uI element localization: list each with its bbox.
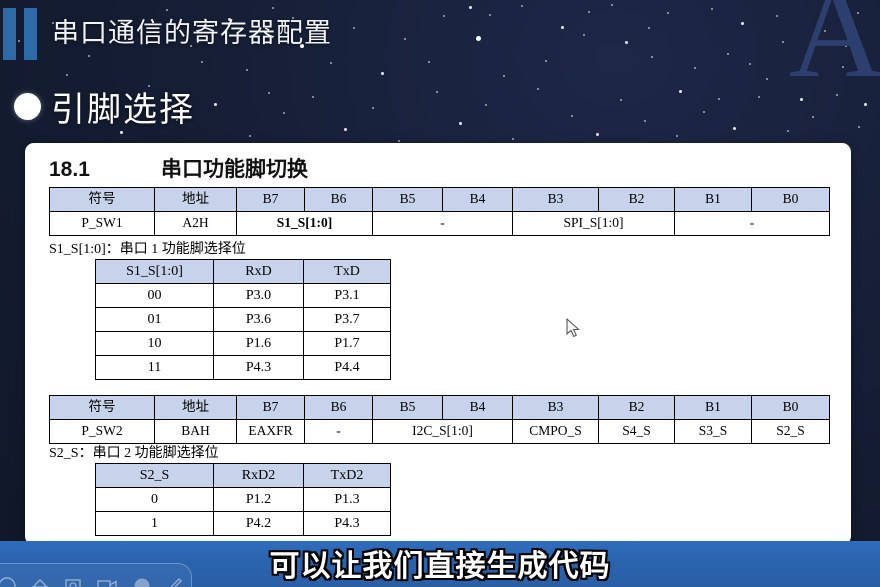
table-row: 0 P1.2 P1.3 (96, 488, 391, 512)
cell-txd: P3.7 (304, 308, 391, 332)
cell-value: 00 (96, 284, 214, 308)
col-header: B1 (675, 188, 752, 212)
table-row: 10 P1.6 P1.7 (96, 332, 391, 356)
note-s2-s: S2_S：串口 2 功能脚选择位 (49, 442, 219, 462)
table-s1-s-selection: S1_S[1:0] RxD TxD 00 P3.0 P3.1 01 P3.6 P… (95, 259, 391, 380)
cell-value: 10 (96, 332, 214, 356)
cell-b1: S3_S (675, 420, 752, 444)
cell-value: 1 (96, 512, 214, 536)
table-header-row: 符号 地址 B7 B6 B5 B4 B3 B2 B1 B0 (50, 396, 830, 420)
col-header: B0 (752, 188, 830, 212)
col-header: B6 (305, 396, 373, 420)
cell-address: BAH (155, 420, 237, 444)
col-header: B5 (373, 396, 443, 420)
cell-rxd2: P1.2 (214, 488, 304, 512)
cell-symbol: P_SW1 (50, 212, 155, 236)
cell-value: 0 (96, 488, 214, 512)
table-row: P_SW1 A2H S1_S[1:0] - SPI_S[1:0] - (50, 212, 830, 236)
col-header: RxD (214, 260, 304, 284)
col-header: 符号 (50, 188, 155, 212)
cell-value: 01 (96, 308, 214, 332)
table-row: 01 P3.6 P3.7 (96, 308, 391, 332)
page-title: 串口通信的寄存器配置 (52, 11, 332, 50)
col-header: TxD2 (304, 464, 391, 488)
cell-rxd: P3.0 (214, 284, 304, 308)
cell-b5-b4: I2C_S[1:0] (373, 420, 513, 444)
cell-txd: P3.1 (304, 284, 391, 308)
bullet-heading-label: 引脚选择 (51, 82, 195, 131)
cell-rxd: P4.3 (214, 356, 304, 380)
mouse-cursor (566, 318, 582, 340)
cell-txd2: P1.3 (304, 488, 391, 512)
section-heading: 18.1串口功能脚切换 (49, 153, 308, 183)
col-header: RxD2 (214, 464, 304, 488)
cell-value: 11 (96, 356, 214, 380)
player-bottom-bar: 可以让我们直接生成代码 (0, 541, 880, 587)
cell-b0: S2_S (752, 420, 830, 444)
cell-b6: - (305, 420, 373, 444)
col-header: B6 (305, 188, 373, 212)
col-header: B2 (599, 188, 675, 212)
col-header: S2_S (96, 464, 214, 488)
table-row: 1 P4.2 P4.3 (96, 512, 391, 536)
col-header: B3 (513, 188, 599, 212)
section-number: 18.1 (49, 158, 161, 182)
col-header: 地址 (155, 188, 237, 212)
col-header: 地址 (155, 396, 237, 420)
col-header: B4 (443, 188, 513, 212)
table-row: 11 P4.3 P4.4 (96, 356, 391, 380)
col-header: B0 (752, 396, 830, 420)
table-header-row: 符号 地址 B7 B6 B5 B4 B3 B2 B1 B0 (50, 188, 830, 212)
cell-txd: P1.7 (304, 332, 391, 356)
accent-bar-left (3, 8, 16, 60)
col-header: B4 (443, 396, 513, 420)
table-header-row: S1_S[1:0] RxD TxD (96, 260, 391, 284)
col-header: S1_S[1:0] (96, 260, 214, 284)
table-row: 00 P3.0 P3.1 (96, 284, 391, 308)
table-p-sw2: 符号 地址 B7 B6 B5 B4 B3 B2 B1 B0 P_SW2 (49, 395, 830, 444)
col-header: B2 (599, 396, 675, 420)
col-header: 符号 (50, 396, 155, 420)
cell-txd: P4.4 (304, 356, 391, 380)
note-s1-s: S1_S[1:0]：串口 1 功能脚选择位 (49, 238, 246, 258)
cell-address: A2H (155, 212, 237, 236)
col-header: B1 (675, 396, 752, 420)
col-header: B5 (373, 188, 443, 212)
section-title: 串口功能脚切换 (161, 158, 308, 181)
table-header-row: S2_S RxD2 TxD2 (96, 464, 391, 488)
slide-title-bar: 串口通信的寄存器配置 (0, 8, 880, 60)
cell-b3: CMPO_S (513, 420, 599, 444)
table-p-sw1: 符号 地址 B7 B6 B5 B4 B3 B2 B1 B0 P_SW1 (49, 187, 830, 236)
cell-symbol: P_SW2 (50, 420, 155, 444)
document-panel: 18.1串口功能脚切换 符号 地址 B7 B6 B (25, 143, 851, 545)
accent-bar-right (24, 8, 37, 60)
table-row: P_SW2 BAH EAXFR - I2C_S[1:0] CMPO_S S4_S… (50, 420, 830, 444)
subtitle-caption: 可以让我们直接生成代码 (0, 541, 880, 585)
presentation-slide: A 串口通信的寄存器配置 引脚选择 18.1串口功能脚切换 (0, 0, 880, 587)
cell-rxd: P3.6 (214, 308, 304, 332)
col-header: B3 (513, 396, 599, 420)
cell-txd2: P4.3 (304, 512, 391, 536)
cell-rxd: P1.6 (214, 332, 304, 356)
col-header: TxD (304, 260, 391, 284)
table-s2-s-selection: S2_S RxD2 TxD2 0 P1.2 P1.3 1 P4.2 P4.3 (95, 463, 391, 536)
cell-rxd2: P4.2 (214, 512, 304, 536)
cell-b7: EAXFR (237, 420, 305, 444)
cell-b2: S4_S (599, 420, 675, 444)
cell-b3-b2: SPI_S[1:0] (513, 212, 675, 236)
col-header: B7 (237, 188, 305, 212)
col-header: B7 (237, 396, 305, 420)
cell-b1-b0: - (675, 212, 830, 236)
bullet-dot-icon (14, 93, 41, 120)
bullet-heading: 引脚选择 (14, 82, 195, 131)
cell-b5-b4: - (373, 212, 513, 236)
cell-b7-b6: S1_S[1:0] (237, 212, 373, 236)
